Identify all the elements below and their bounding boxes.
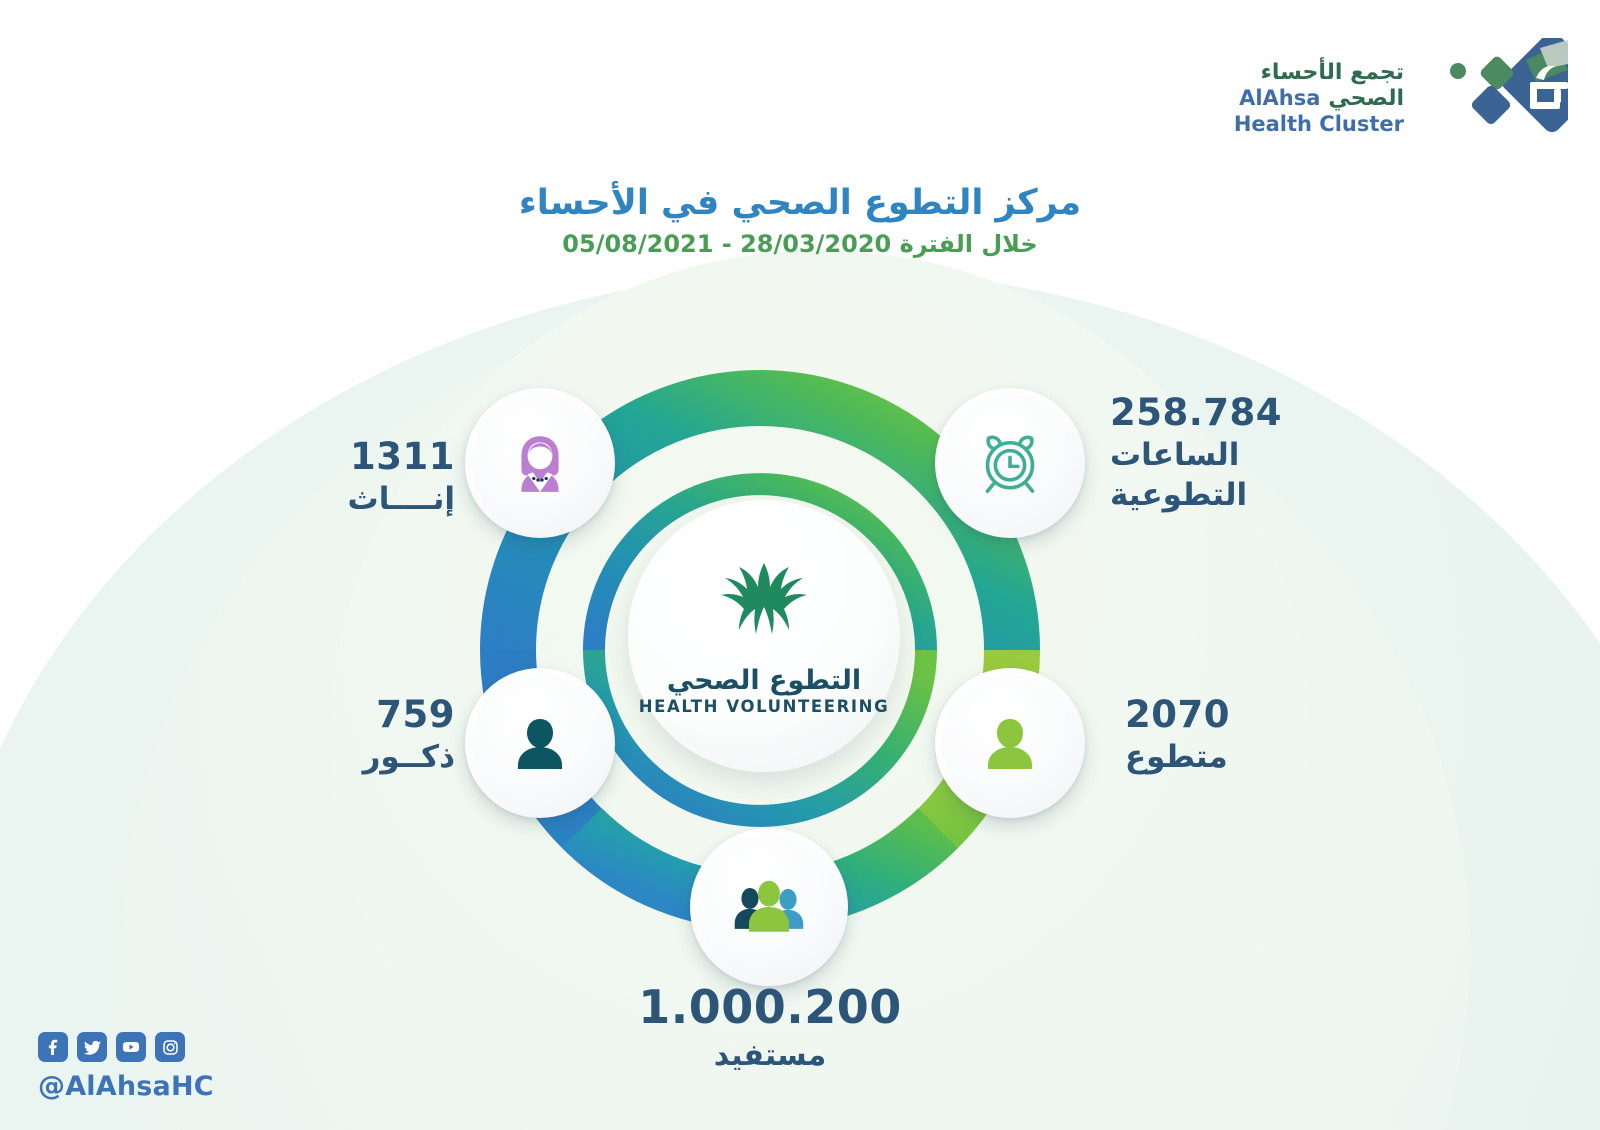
stat-volunteers-label: متطوع <box>1125 740 1425 775</box>
instagram-icon[interactable] <box>155 1032 185 1062</box>
stat-males-label: ذكــور <box>175 740 455 775</box>
twitter-icon[interactable] <box>77 1032 107 1062</box>
brand-logo: تجمع الأحساء AlAhsa الصحي Health Cluster <box>1234 38 1568 158</box>
page-title-block: مركز التطوع الصحي في الأحساء خلال الفترة… <box>0 182 1600 258</box>
page-title: مركز التطوع الصحي في الأحساء <box>0 182 1600 226</box>
social-footer: @AlAhsaHC <box>38 1032 214 1102</box>
node-volunteers[interactable] <box>935 668 1085 818</box>
female-avatar-icon <box>507 430 573 496</box>
stat-volunteers-value: 2070 <box>1125 694 1425 735</box>
center-logo-disc: التطوع الصحي HEALTH VOLUNTEERING <box>628 500 900 772</box>
brand-english-line1: AlAhsa <box>1239 86 1320 111</box>
stat-hours-label-line1: الساعات <box>1110 438 1440 473</box>
brand-text: تجمع الأحساء AlAhsa الصحي Health Cluster <box>1234 60 1404 137</box>
social-icon-row <box>38 1032 214 1062</box>
brand-english-line2: Health Cluster <box>1234 112 1404 137</box>
stat-females-value: 1311 <box>175 436 455 477</box>
youtube-icon[interactable] <box>116 1032 146 1062</box>
stat-beneficiaries-label: مستفيد <box>510 1039 1030 1073</box>
palm-tree-icon <box>700 557 828 657</box>
stat-beneficiaries: 1.000.200 مستفيد <box>510 982 1030 1072</box>
stat-hours-label-line2: التطوعية <box>1110 478 1440 513</box>
stat-females: 1311 إنــــاث <box>175 436 455 517</box>
stat-males: 759 ذكــور <box>175 694 455 775</box>
alahsa-diamond-mark-icon <box>1418 38 1568 158</box>
node-females[interactable] <box>465 388 615 538</box>
node-males[interactable] <box>465 668 615 818</box>
stat-hours-value: 258.784 <box>1110 392 1440 433</box>
brand-arabic-line2: الصحي <box>1328 86 1404 112</box>
facebook-icon[interactable] <box>38 1032 68 1062</box>
brand-line-two: AlAhsa الصحي <box>1234 86 1404 112</box>
alarm-clock-icon <box>974 427 1046 499</box>
node-beneficiaries[interactable] <box>690 828 848 986</box>
node-volunteer-hours[interactable] <box>935 388 1085 538</box>
volunteer-person-icon <box>978 711 1042 775</box>
stat-volunteers: 2070 متطوع <box>1125 694 1425 775</box>
stat-volunteer-hours: 258.784 الساعات التطوعية <box>1110 392 1440 513</box>
social-handle[interactable]: @AlAhsaHC <box>38 1071 214 1102</box>
page-subtitle: خلال الفترة 28/03/2020 - 05/08/2021 <box>0 230 1600 258</box>
center-logo-arabic: التطوع الصحي <box>667 665 861 696</box>
center-logo-english: HEALTH VOLUNTEERING <box>639 697 889 716</box>
group-people-icon <box>729 875 809 939</box>
stat-females-label: إنــــاث <box>175 482 455 517</box>
male-avatar-icon <box>508 711 572 775</box>
brand-arabic-line1: تجمع الأحساء <box>1234 60 1404 86</box>
stat-beneficiaries-value: 1.000.200 <box>510 982 1030 1034</box>
stat-males-value: 759 <box>175 694 455 735</box>
